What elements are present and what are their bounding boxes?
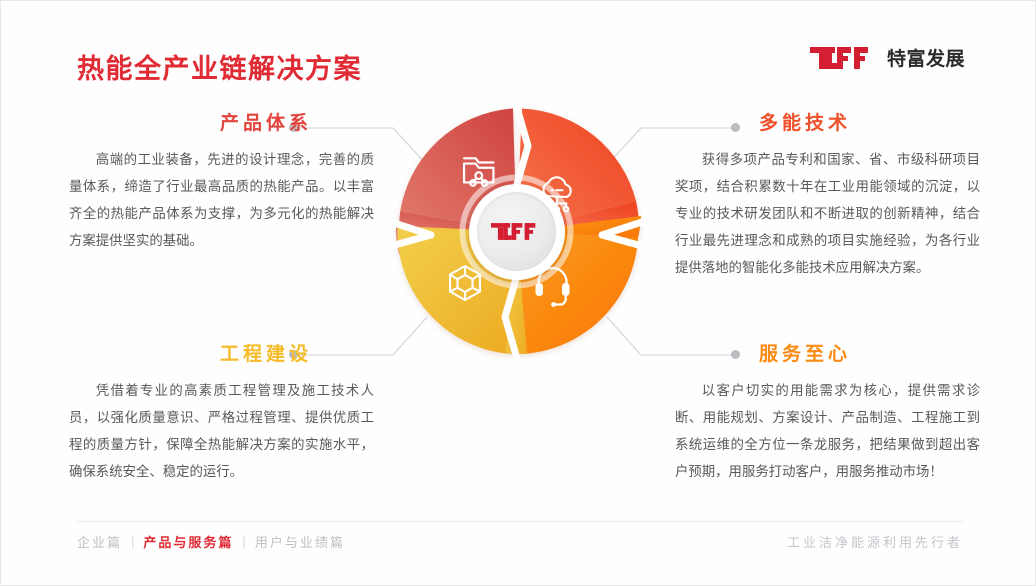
quadrant-engineering: 工程建设 凭借着专业的高素质工程管理及施工技术人员，以强化质量意识、严格过程管理… — [69, 345, 374, 485]
quadrant-body-multi-energy: 获得多项产品专利和国家、省、市级科研项目奖项，结合积累数十年在工业用能领域的沉淀… — [675, 146, 980, 281]
footer-separator-1: | — [131, 534, 134, 549]
tuff-hub-logo-icon — [491, 223, 543, 240]
footer-nav-item-company[interactable]: 企业篇 — [77, 532, 122, 551]
quadrant-body-engineering: 凭借着专业的高素质工程管理及施工技术人员，以强化质量意识、严格过程管理、提供优质… — [69, 377, 374, 485]
quadrant-service: 服务至心 以客户切实的用能需求为核心，提供需求诊断、用能规划、方案设计、产品制造… — [675, 345, 980, 485]
segmented-wheel-diagram — [389, 104, 644, 359]
wheel-hub-inner — [477, 192, 556, 271]
quadrant-product-system: 产品体系 高端的工业装备，先进的设计理念，完善的质量体系，缔造了行业最高品质的热… — [69, 114, 374, 254]
quadrant-body-product-system: 高端的工业装备，先进的设计理念，完善的质量体系，缔造了行业最高品质的热能产品。以… — [69, 146, 374, 254]
footer-separator-2: | — [242, 534, 245, 549]
quadrant-title-engineering: 工程建设 — [69, 345, 312, 364]
footer-tagline: 工业洁净能源利用先行者 — [787, 532, 963, 551]
slide-footer: 企业篇 | 产品与服务篇 | 用户与业绩篇 工业洁净能源利用先行者 — [77, 521, 963, 561]
wheel-hub — [469, 184, 565, 280]
page-title: 热能全产业链解决方案 — [77, 47, 362, 86]
quadrant-title-multi-energy: 多能技术 — [759, 114, 980, 133]
slide-canvas: 热能全产业链解决方案 特富发展 — [0, 0, 1036, 586]
brand-logo-text: 特富发展 — [887, 44, 965, 71]
quadrant-title-service: 服务至心 — [759, 345, 980, 364]
slide-header: 热能全产业链解决方案 特富发展 — [1, 1, 1036, 103]
quadrant-title-product-system: 产品体系 — [69, 114, 312, 133]
footer-nav-item-products-services[interactable]: 产品与服务篇 — [143, 532, 233, 551]
quadrant-body-service: 以客户切实的用能需求为核心，提供需求诊断、用能规划、方案设计、产品制造、工程施工… — [675, 377, 980, 485]
tuff-logo-icon — [810, 47, 878, 69]
quadrant-multi-energy: 多能技术 获得多项产品专利和国家、省、市级科研项目奖项，结合积累数十年在工业用能… — [675, 114, 980, 281]
brand-logo: 特富发展 — [810, 44, 965, 71]
footer-nav: 企业篇 | 产品与服务篇 | 用户与业绩篇 — [77, 532, 345, 551]
footer-nav-item-customers-performance[interactable]: 用户与业绩篇 — [255, 532, 345, 551]
